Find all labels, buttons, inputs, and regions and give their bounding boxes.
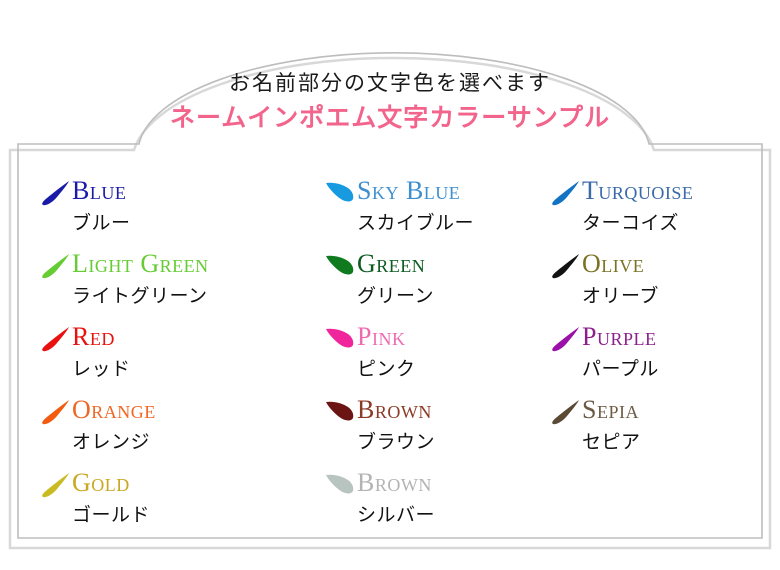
swatch-orange[interactable]: Orange オレンジ <box>40 395 270 468</box>
brush-stroke-icon <box>40 326 70 352</box>
swatch-red[interactable]: Red レッド <box>40 322 270 395</box>
swatch-turquoise[interactable]: Turquoise ターコイズ <box>550 176 780 249</box>
swatch-sepia[interactable]: Sepia セピア <box>550 395 780 468</box>
swatch-top: Blue <box>40 176 270 210</box>
swatch-name-en: Purple <box>582 320 656 354</box>
swatch-top: Pink <box>325 322 555 356</box>
swatch-name-ja: グリーン <box>357 281 434 308</box>
swatch-olive[interactable]: Olive オリーブ <box>550 249 780 322</box>
swatch-name-ja: ターコイズ <box>582 208 679 235</box>
swatch-name-en: Sky Blue <box>357 174 460 208</box>
page-subtitle: お名前部分の文字色を選べます <box>0 70 780 96</box>
swatch-blue[interactable]: Blue ブルー <box>40 176 270 249</box>
swatch-name-en: Blue <box>72 174 126 208</box>
brush-stroke-icon <box>325 399 355 425</box>
swatch-name-en: Brown <box>357 466 432 500</box>
brush-stroke-icon <box>325 326 355 352</box>
swatch-top: Purple <box>550 322 780 356</box>
swatch-top: Gold <box>40 468 270 502</box>
swatch-top: Brown <box>325 395 555 429</box>
swatch-name-en: Orange <box>72 393 156 427</box>
color-sample-page: お名前部分の文字色を選べます ネームインポエム文字カラーサンプル Blue ブル… <box>0 0 780 570</box>
brush-stroke-icon <box>40 253 70 279</box>
swatch-silver[interactable]: Brown シルバー <box>325 468 555 541</box>
swatch-name-ja: ゴールド <box>72 500 150 527</box>
swatch-name-en: Turquoise <box>582 174 693 208</box>
swatch-name-en: Light Green <box>72 247 209 281</box>
swatch-name-en: Red <box>72 320 115 354</box>
swatch-name-en: Pink <box>357 320 405 354</box>
swatch-name-ja: オリーブ <box>582 281 659 308</box>
swatch-top: Olive <box>550 249 780 283</box>
swatch-name-ja: セピア <box>582 427 641 454</box>
swatch-name-ja: スカイブルー <box>357 208 474 235</box>
swatch-purple[interactable]: Purple パープル <box>550 322 780 395</box>
swatch-name-ja: パープル <box>582 354 659 381</box>
brush-stroke-icon <box>40 180 70 206</box>
brush-stroke-icon <box>550 253 580 279</box>
brush-stroke-icon <box>550 399 580 425</box>
brush-stroke-icon <box>550 326 580 352</box>
swatch-name-ja: シルバー <box>357 500 435 527</box>
swatch-name-ja: オレンジ <box>72 427 150 454</box>
swatch-name-en: Sepia <box>582 393 639 427</box>
swatch-name-en: Olive <box>582 247 644 281</box>
brush-stroke-icon <box>325 472 355 498</box>
swatch-name-ja: レッド <box>72 354 131 381</box>
swatch-top: Turquoise <box>550 176 780 210</box>
brush-stroke-icon <box>325 180 355 206</box>
swatch-top: Brown <box>325 468 555 502</box>
color-swatch-grid: Blue ブルー Light Green ライトグリーン <box>40 176 740 526</box>
swatch-top: Green <box>325 249 555 283</box>
swatch-top: Red <box>40 322 270 356</box>
swatch-light-green[interactable]: Light Green ライトグリーン <box>40 249 270 322</box>
swatch-pink[interactable]: Pink ピンク <box>325 322 555 395</box>
swatch-name-ja: ブラウン <box>357 427 435 454</box>
brush-stroke-icon <box>40 399 70 425</box>
swatch-name-en: Brown <box>357 393 432 427</box>
swatch-top: Sky Blue <box>325 176 555 210</box>
brush-stroke-icon <box>40 472 70 498</box>
page-header: お名前部分の文字色を選べます ネームインポエム文字カラーサンプル <box>0 70 780 133</box>
swatch-gold[interactable]: Gold ゴールド <box>40 468 270 541</box>
swatch-name-ja: ピンク <box>357 354 416 381</box>
swatch-top: Orange <box>40 395 270 429</box>
brush-stroke-icon <box>325 253 355 279</box>
swatch-name-en: Green <box>357 247 425 281</box>
swatch-name-en: Gold <box>72 466 130 500</box>
swatch-top: Sepia <box>550 395 780 429</box>
swatch-sky-blue[interactable]: Sky Blue スカイブルー <box>325 176 555 249</box>
swatch-green[interactable]: Green グリーン <box>325 249 555 322</box>
swatch-brown[interactable]: Brown ブラウン <box>325 395 555 468</box>
page-title: ネームインポエム文字カラーサンプル <box>0 103 780 133</box>
swatch-name-ja: ブルー <box>72 208 131 235</box>
swatch-name-ja: ライトグリーン <box>72 281 208 308</box>
brush-stroke-icon <box>550 180 580 206</box>
swatch-top: Light Green <box>40 249 270 283</box>
